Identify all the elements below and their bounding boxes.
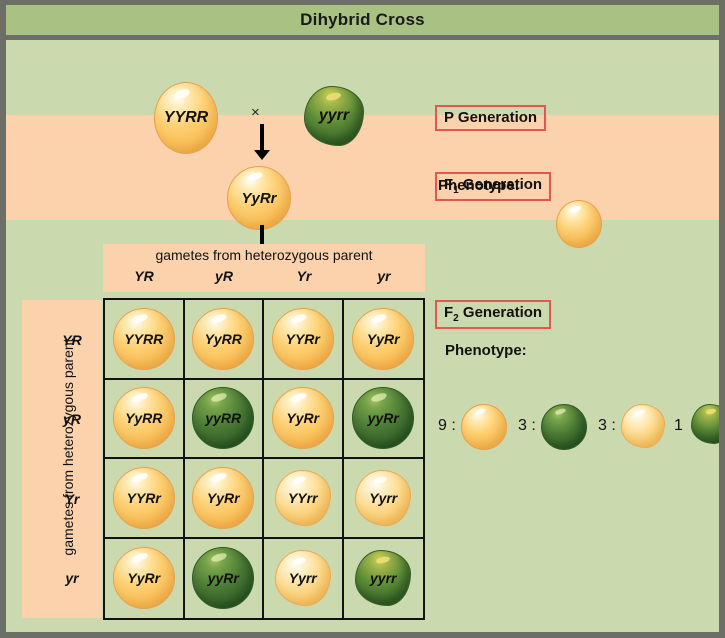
punnett-genotype: yyRr <box>368 410 399 426</box>
punnett-cell: yyRr <box>185 539 265 619</box>
punnett-genotype: YyRR <box>205 331 242 347</box>
f2-generation-badge: F2 Generation <box>435 300 551 329</box>
f1-offspring-pea: YyRr <box>227 166 291 230</box>
punnett-genotype: YyRr <box>207 490 240 506</box>
punnett-pea-round-green: yyRr <box>192 547 254 609</box>
f1-phenotype-label: Phenotype: <box>438 177 520 194</box>
dihybrid-cross-figure: Dihybrid Cross YYRR × yyrr P Generation … <box>0 0 725 638</box>
gametes-left-band: gametes from heterozygous parent YR yR Y… <box>22 300 102 618</box>
punnett-cell: YYrr <box>264 459 344 539</box>
gamete-left-3: yr <box>48 570 96 586</box>
gamete-top-0: YR <box>104 268 184 284</box>
punnett-genotype: Yyrr <box>369 490 397 506</box>
punnett-genotype: YYrr <box>288 490 318 506</box>
p-parent1-pea: YYRR <box>154 82 218 154</box>
punnett-pea-round-green: yyRR <box>192 387 254 449</box>
punnett-genotype: Yyrr <box>289 570 317 586</box>
punnett-genotype: YyRr <box>367 331 400 347</box>
p-generation-badge: P Generation <box>435 105 546 131</box>
punnett-cell: YyRr <box>105 539 185 619</box>
p-parent2-pea: yyrr <box>304 86 364 146</box>
punnett-cell: Yyrr <box>344 459 424 539</box>
punnett-cell: YyRR <box>105 380 185 460</box>
punnett-genotype: yyrr <box>370 570 396 586</box>
ratio-count-0: 9 : <box>438 417 456 435</box>
punnett-pea-wrinkled-green: yyrr <box>355 550 411 606</box>
gamete-left-2: Yr <box>48 491 96 507</box>
punnett-pea-round-yellow: YYRr <box>113 467 175 529</box>
gamete-top-2: Yr <box>264 268 344 284</box>
figure-body: YYRR × yyrr P Generation YyRr F1 Generat… <box>6 40 719 632</box>
punnett-genotype: YyRr <box>286 410 319 426</box>
punnett-pea-round-yellow: YyRr <box>113 547 175 609</box>
punnett-pea-wrinkled-yellow: Yyrr <box>355 470 411 526</box>
ratio-pea-wrinkled-yellow <box>621 404 665 448</box>
gamete-top-1: yR <box>184 268 264 284</box>
punnett-pea-round-yellow: YyRr <box>272 387 334 449</box>
punnett-pea-round-yellow: YyRR <box>192 308 254 370</box>
punnett-genotype: YYRr <box>286 331 320 347</box>
gamete-left-1: yR <box>48 411 96 427</box>
arrow-p-to-f1 <box>254 124 270 160</box>
ratio-count-1: 3 : <box>518 417 536 435</box>
arrow-shaft <box>260 124 264 150</box>
ratio-pea-wrinkled-green <box>691 404 719 444</box>
punnett-pea-wrinkled-yellow: YYrr <box>275 470 331 526</box>
page-title: Dihybrid Cross <box>300 10 425 30</box>
punnett-cell: YyRR <box>185 300 265 380</box>
f2-generation-label-prefix: F <box>444 304 453 321</box>
punnett-pea-round-green: yyRr <box>352 387 414 449</box>
cross-symbol: × <box>251 104 260 121</box>
figure-title-bar: Dihybrid Cross <box>6 5 719 35</box>
punnett-pea-round-yellow: YyRr <box>192 467 254 529</box>
punnett-genotype: YYRR <box>124 331 163 347</box>
punnett-genotype: YyRR <box>125 410 162 426</box>
punnett-pea-round-yellow: YYRR <box>113 308 175 370</box>
punnett-cell: yyRR <box>185 380 265 460</box>
punnett-genotype: yyRr <box>208 570 239 586</box>
p-parent1-genotype: YYRR <box>164 109 208 127</box>
punnett-cell: yyrr <box>344 539 424 619</box>
f1-background-band <box>6 115 719 220</box>
phenotype-ratio-row: 9 :3 :3 :1 <box>438 402 719 458</box>
ratio-pea-round-green <box>541 404 587 450</box>
punnett-cell: YyRr <box>344 300 424 380</box>
punnett-cell: YyRr <box>264 380 344 460</box>
punnett-square: YYRRYyRRYYRrYyRrYyRRyyRRYyRryyRrYYRrYyRr… <box>103 298 425 620</box>
f2-phenotype-label: Phenotype: <box>445 342 527 359</box>
gametes-top-title: gametes from heterozygous parent <box>103 247 425 263</box>
punnett-genotype: YYRr <box>127 490 161 506</box>
p-generation-label: P Generation <box>444 109 537 126</box>
ratio-count-3: 1 <box>674 417 683 435</box>
punnett-cell: YYRr <box>105 459 185 539</box>
punnett-pea-wrinkled-yellow: Yyrr <box>275 550 331 606</box>
f2-generation-label-suffix: Generation <box>459 304 542 321</box>
punnett-pea-round-yellow: YYRr <box>272 308 334 370</box>
punnett-pea-round-yellow: YyRr <box>352 308 414 370</box>
ratio-count-2: 3 : <box>598 417 616 435</box>
gametes-top-band: gametes from heterozygous parent YR yR Y… <box>103 244 425 292</box>
punnett-cell: YyRr <box>185 459 265 539</box>
punnett-cell: Yyrr <box>264 539 344 619</box>
f1-phenotype-pea <box>556 200 602 248</box>
punnett-cell: YYRR <box>105 300 185 380</box>
punnett-genotype: yyRR <box>205 410 241 426</box>
gamete-left-0: YR <box>48 332 96 348</box>
f1-genotype: YyRr <box>241 190 276 207</box>
punnett-cell: yyRr <box>344 380 424 460</box>
ratio-pea-round-yellow <box>461 404 507 450</box>
p-parent2-genotype: yyrr <box>319 107 349 125</box>
punnett-cell: YYRr <box>264 300 344 380</box>
gamete-top-3: yr <box>344 268 424 284</box>
punnett-pea-round-yellow: YyRR <box>113 387 175 449</box>
punnett-genotype: YyRr <box>127 570 160 586</box>
arrow-head <box>254 150 270 160</box>
